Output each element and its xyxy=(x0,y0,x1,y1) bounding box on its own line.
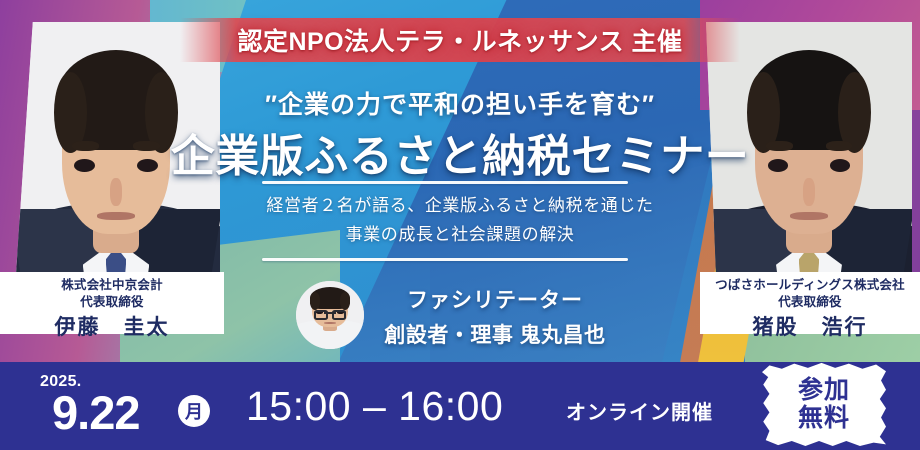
weekday-badge: 月 xyxy=(178,395,210,427)
speaker-left-name: 伊藤 圭太 xyxy=(0,311,224,341)
divider-top xyxy=(262,181,628,184)
nose-shape xyxy=(110,178,122,206)
speaker-right-role: 代表取締役 xyxy=(700,294,920,310)
badge-line-1: 参加 xyxy=(798,376,850,404)
facilitator-role: ファシリテーター xyxy=(370,284,620,314)
eyebrow-left xyxy=(72,141,99,152)
facilitator-info: ファシリテーター 創設者・理事 鬼丸昌也 xyxy=(370,284,620,349)
badge-label: 参加 無料 xyxy=(762,362,886,446)
speaker-left-nameplate: 株式会社中京会計 代表取締役 伊藤 圭太 xyxy=(0,272,224,334)
free-participation-badge: 参加 無料 xyxy=(762,362,886,446)
badge-line-2: 無料 xyxy=(798,404,850,432)
event-format: オンライン開催 xyxy=(566,396,713,425)
mouth-shape xyxy=(97,212,134,220)
glasses-bridge-icon xyxy=(324,312,336,314)
subtitle-line-1: 経営者２名が語る、企業版ふるさと納税を通じた xyxy=(200,192,720,221)
host-label: 認定NPO法人テラ・ルネッサンス 主催 xyxy=(180,18,740,62)
page-title: 企業版ふるさと納税セミナー xyxy=(155,120,765,184)
eyebrow-right xyxy=(826,141,853,152)
event-time: 15:00 – 16:00 xyxy=(246,383,503,430)
mouth-shape xyxy=(790,212,827,220)
tagline: ″企業の力で平和の担い手を育む″ xyxy=(180,85,740,121)
divider-bottom xyxy=(262,258,628,261)
speaker-right-nameplate: つばさホールディングス株式会社 代表取締役 猪股 浩行 xyxy=(700,272,920,334)
speaker-left-org: 株式会社中京会計 xyxy=(0,272,224,294)
speaker-left-role: 代表取締役 xyxy=(0,294,224,310)
nose-shape xyxy=(803,178,815,206)
speaker-right-name: 猪股 浩行 xyxy=(700,311,920,341)
subtitle-line-2: 事業の成長と社会課題の解決 xyxy=(200,221,720,250)
subtitle: 経営者２名が語る、企業版ふるさと納税を通じた 事業の成長と社会課題の解決 xyxy=(200,192,720,250)
facilitator-avatar xyxy=(296,281,364,349)
speaker-right-org: つばさホールディングス株式会社 xyxy=(700,272,920,294)
seminar-banner: 認定NPO法人テラ・ルネッサンス 主催 ″企業の力で平和の担い手を育む″ 企業版… xyxy=(0,0,920,450)
hair-side-left xyxy=(310,292,321,310)
eyebrow-left xyxy=(766,141,793,152)
event-date: 9.22 xyxy=(52,385,139,440)
glasses-icon xyxy=(332,310,346,320)
hair-side-right xyxy=(340,292,351,310)
glasses-icon xyxy=(314,310,328,320)
facilitator-name: 創設者・理事 鬼丸昌也 xyxy=(370,319,620,349)
